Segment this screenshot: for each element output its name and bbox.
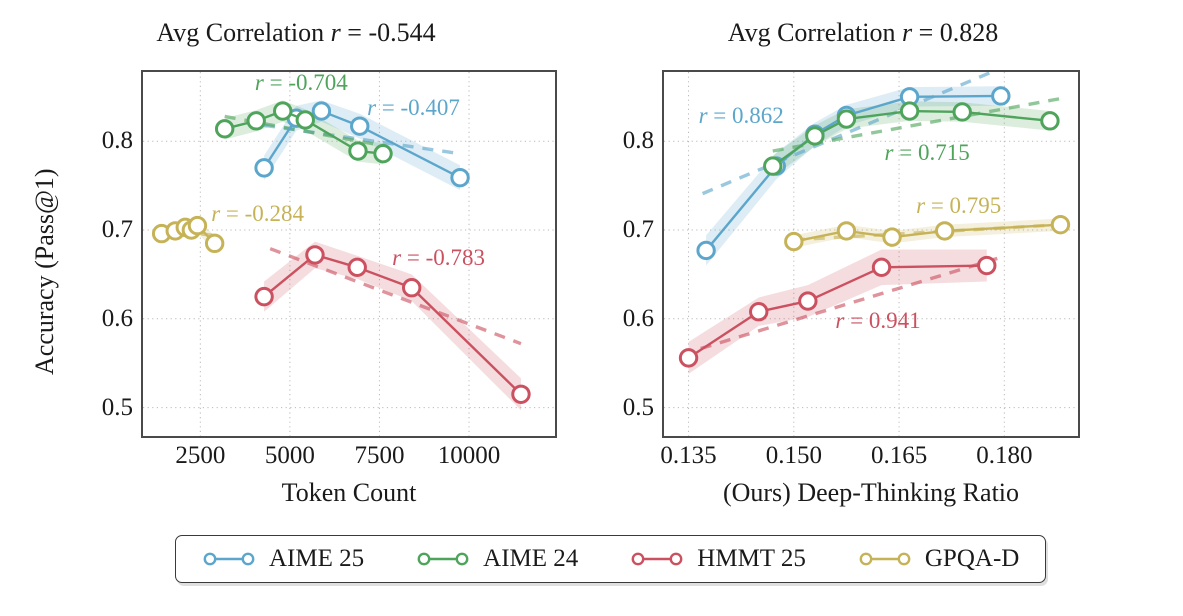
legend-item-gpqa-d[interactable]: GPQA-D [832, 545, 1045, 573]
panel-right-title-value: = 0.828 [912, 18, 998, 47]
correlation-annotation: r = 0.795 [916, 193, 1001, 219]
legend-item-hmmt-25[interactable]: HMMT 25 [604, 545, 832, 573]
correlation-annotation: r = 0.941 [835, 308, 920, 334]
legend-item-aime-25[interactable]: AIME 25 [176, 545, 390, 573]
x-tick-label: 2500 [175, 442, 225, 470]
panel-right-title-prefix: Avg Correlation [728, 18, 902, 47]
x-axis-label-right: (Ours) Deep-Thinking Ratio [662, 478, 1080, 508]
legend-line-marker-icon [202, 548, 256, 570]
panel-right: Avg Correlation r = 0.828 0.50.60.70.8 0… [592, 0, 1183, 510]
panel-left-title-prefix: Avg Correlation [156, 18, 330, 47]
panel-left-title-r: r [331, 18, 341, 47]
correlation-annotation: r = 0.862 [699, 103, 784, 129]
plot-area-left [141, 70, 557, 438]
correlation-annotation: r = -0.704 [255, 70, 348, 96]
figure-root: Avg Correlation r = -0.544 Accuracy (Pas… [0, 0, 1183, 616]
x-tick-label: 0.180 [976, 442, 1032, 470]
y-axis-label-left: Accuracy (Pass@1) [30, 168, 60, 375]
correlation-annotation: r = -0.284 [211, 201, 304, 227]
legend-line-marker-icon [858, 548, 912, 570]
y-tick-label: 0.5 [594, 394, 654, 422]
y-tick-label: 0.8 [73, 127, 133, 155]
y-tick-label: 0.6 [594, 305, 654, 333]
x-tick-label: 7500 [354, 442, 404, 470]
x-tick-label: 0.150 [766, 442, 822, 470]
legend: AIME 25AIME 24HMMT 25GPQA-D [175, 535, 1046, 583]
legend-label: HMMT 25 [697, 545, 806, 573]
panel-left-title: Avg Correlation r = -0.544 [40, 18, 552, 48]
legend-line-marker-icon [630, 548, 684, 570]
y-tick-label: 0.6 [73, 305, 133, 333]
x-tick-label: 0.135 [660, 442, 716, 470]
legend-item-aime-24[interactable]: AIME 24 [390, 545, 604, 573]
panel-left: Avg Correlation r = -0.544 Accuracy (Pas… [0, 0, 592, 510]
x-tick-label: 10000 [438, 442, 501, 470]
correlation-annotation: r = -0.407 [367, 95, 460, 121]
legend-label: AIME 24 [483, 545, 578, 573]
y-tick-label: 0.8 [594, 127, 654, 155]
legend-label: GPQA-D [925, 545, 1019, 573]
legend-line-marker-icon [416, 548, 470, 570]
correlation-annotation: r = -0.783 [392, 245, 485, 271]
x-tick-label: 0.165 [871, 442, 927, 470]
panel-right-title-r: r [902, 18, 912, 47]
panel-left-title-value: = -0.544 [341, 18, 436, 47]
correlation-annotation: r = 0.715 [885, 140, 970, 166]
y-tick-label: 0.7 [594, 216, 654, 244]
panel-right-title: Avg Correlation r = 0.828 [607, 18, 1119, 48]
x-axis-label-left: Token Count [141, 478, 557, 508]
y-tick-label: 0.5 [73, 394, 133, 422]
legend-label: AIME 25 [269, 545, 364, 573]
x-tick-label: 5000 [265, 442, 315, 470]
y-tick-label: 0.7 [73, 216, 133, 244]
